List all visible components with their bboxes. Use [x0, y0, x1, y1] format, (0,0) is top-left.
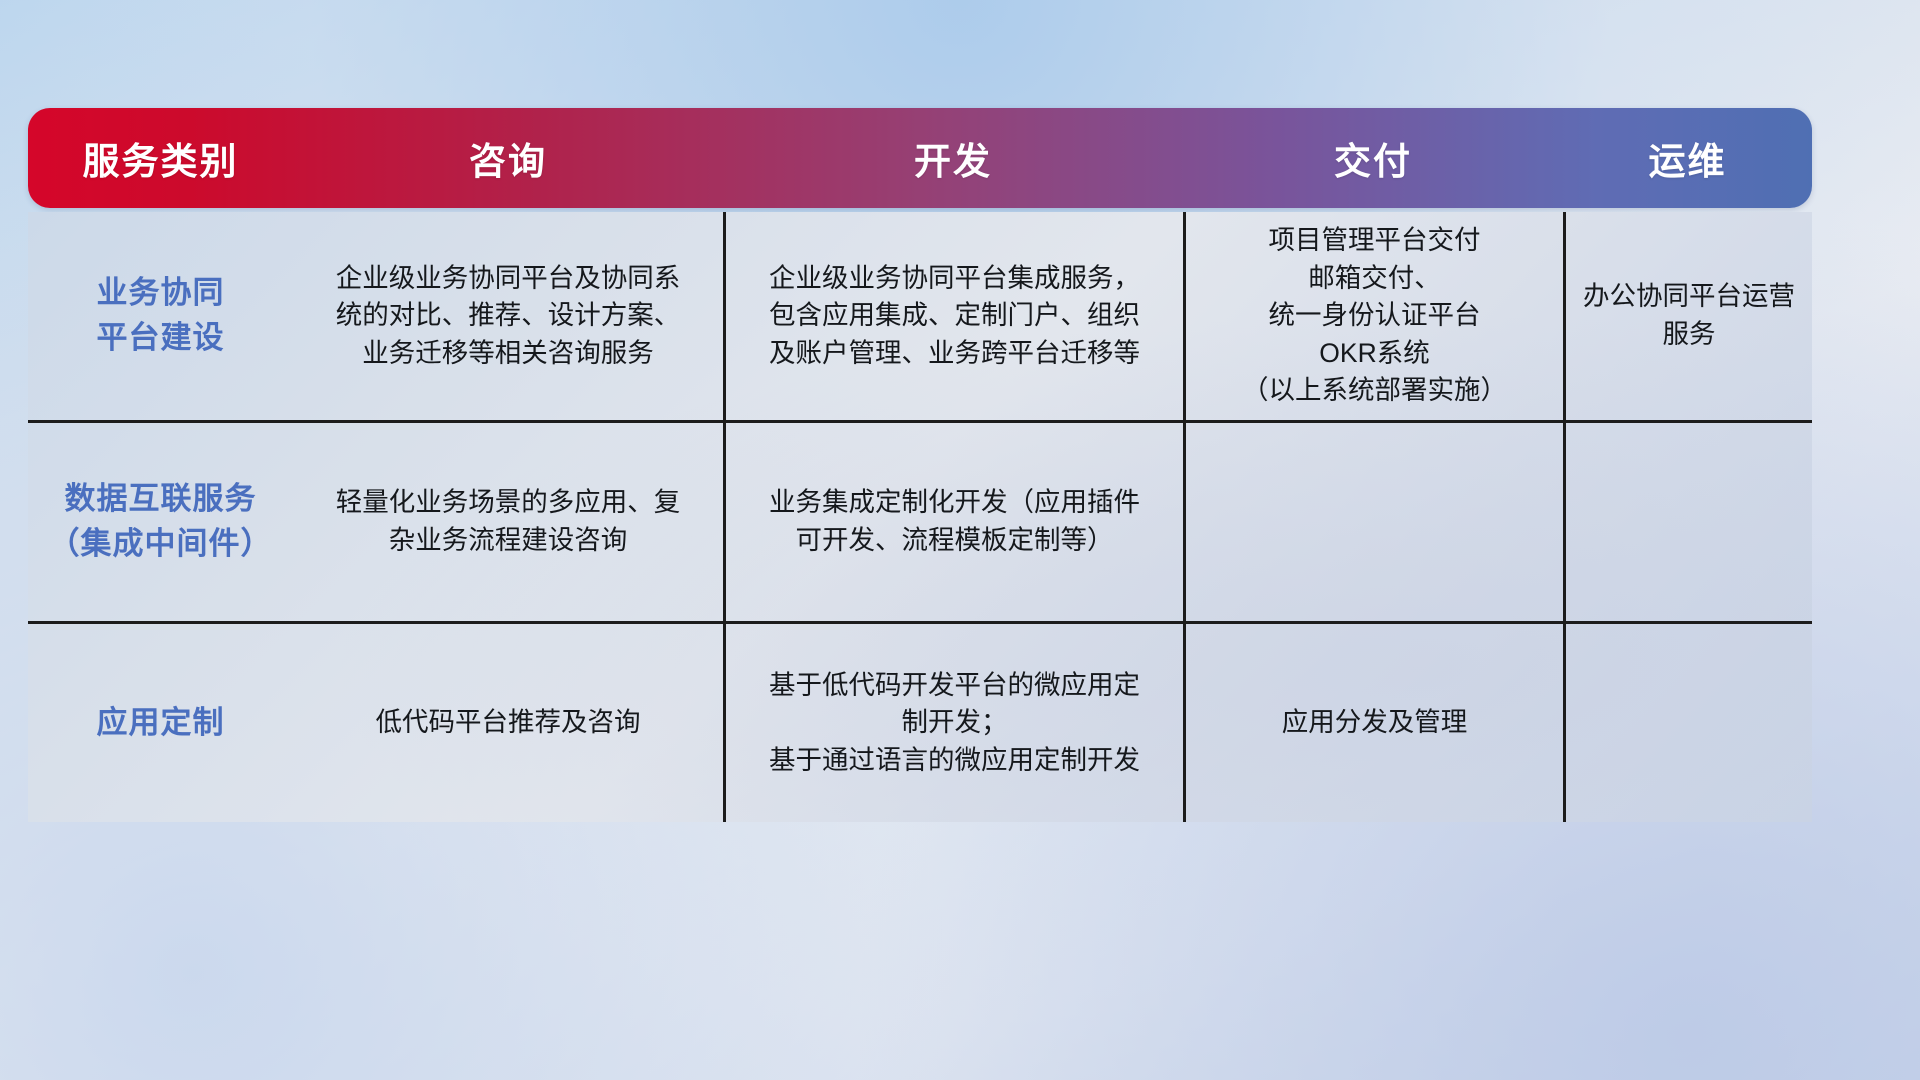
column-header-consulting: 咨询 — [293, 108, 723, 208]
table-row: 数据互联服务 （集成中间件） 轻量化业务场景的多应用、复 杂业务流程建设咨询 业… — [28, 420, 1812, 621]
cell-category: 业务协同 平台建设 — [28, 212, 293, 420]
cell-category: 数据互联服务 （集成中间件） — [28, 423, 293, 621]
column-header-category: 服务类别 — [28, 108, 293, 208]
column-header-delivery: 交付 — [1183, 108, 1563, 208]
cell-consulting: 低代码平台推荐及咨询 — [293, 624, 723, 822]
cell-consulting: 轻量化业务场景的多应用、复 杂业务流程建设咨询 — [293, 423, 723, 621]
cell-delivery: 应用分发及管理 — [1183, 624, 1563, 822]
table-row: 应用定制 低代码平台推荐及咨询 基于低代码开发平台的微应用定 制开发； 基于通过… — [28, 621, 1812, 822]
cell-operations: 办公协同平台运营服务 — [1563, 212, 1812, 420]
cell-delivery: 项目管理平台交付 邮箱交付、 统一身份认证平台 OKR系统 （以上系统部署实施） — [1183, 212, 1563, 420]
cell-development: 业务集成定制化开发（应用插件 可开发、流程模板定制等） — [723, 423, 1183, 621]
table-header-row: 服务类别 咨询 开发 交付 运维 — [28, 108, 1812, 208]
cell-operations — [1563, 624, 1812, 822]
table-body: 业务协同 平台建设 企业级业务协同平台及协同系 统的对比、推荐、设计方案、 业务… — [28, 212, 1812, 822]
service-matrix-table: 服务类别 咨询 开发 交付 运维 业务协同 平台建设 企业级业务协同平台及协同系… — [28, 108, 1812, 822]
cell-operations — [1563, 423, 1812, 621]
slide-canvas: 服务类别 咨询 开发 交付 运维 业务协同 平台建设 企业级业务协同平台及协同系… — [0, 0, 1920, 1080]
column-header-development: 开发 — [723, 108, 1183, 208]
column-header-operations: 运维 — [1563, 108, 1812, 208]
cell-category: 应用定制 — [28, 624, 293, 822]
cell-development: 基于低代码开发平台的微应用定 制开发； 基于通过语言的微应用定制开发 — [723, 624, 1183, 822]
cell-development: 企业级业务协同平台集成服务， 包含应用集成、定制门户、组织 及账户管理、业务跨平… — [723, 212, 1183, 420]
cell-delivery — [1183, 423, 1563, 621]
cell-consulting: 企业级业务协同平台及协同系 统的对比、推荐、设计方案、 业务迁移等相关咨询服务 — [293, 212, 723, 420]
table-row: 业务协同 平台建设 企业级业务协同平台及协同系 统的对比、推荐、设计方案、 业务… — [28, 212, 1812, 420]
